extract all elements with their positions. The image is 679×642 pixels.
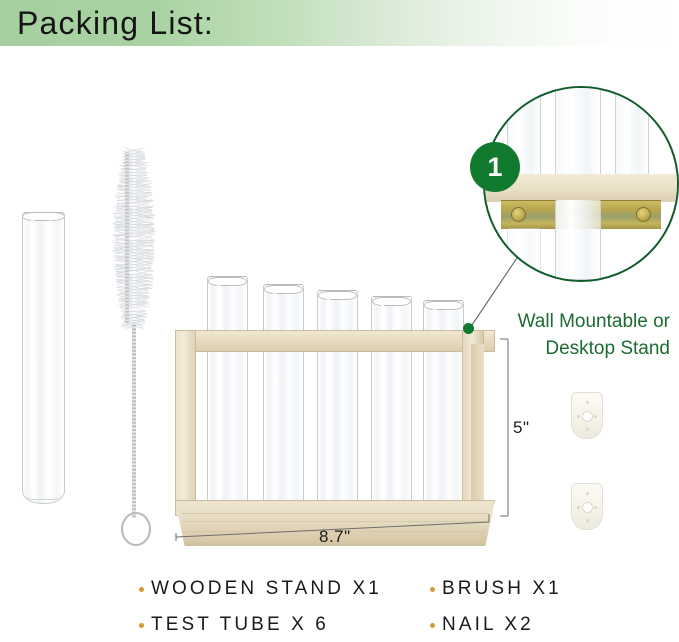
- list-item-label: NAIL X2: [442, 614, 534, 636]
- rack-test-tube: [207, 276, 248, 526]
- list-item-label: TEST TUBE X 6: [151, 614, 329, 636]
- list-item: BRUSH X1: [430, 578, 562, 600]
- callout-test-tube: [555, 86, 601, 184]
- list-item: WOODEN STAND X1: [139, 578, 382, 600]
- plate-center-hole: [582, 411, 593, 422]
- packing-list-items: WOODEN STAND X1 TEST TUBE X 6 BRUSH X1 N…: [0, 574, 679, 642]
- test-tube-rim: [208, 277, 247, 286]
- stand-left-post: [175, 330, 196, 516]
- list-item: TEST TUBE X 6: [139, 614, 329, 636]
- test-tube-rim: [264, 285, 303, 294]
- wall-mount-plate: [571, 483, 603, 530]
- packing-list-header-banner: Packing List:: [0, 0, 679, 46]
- callout-test-tube-lower: [507, 228, 541, 280]
- bullet-icon: [430, 587, 435, 592]
- page-title: Packing List:: [17, 1, 214, 45]
- width-dimension-label: 8.7": [319, 527, 351, 547]
- rack-test-tube: [263, 284, 304, 526]
- wall-mount-plate: [571, 392, 603, 439]
- test-tube-rim: [318, 291, 357, 300]
- bracket-screw: [511, 207, 526, 222]
- test-tube-highlight: [217, 285, 220, 515]
- test-tube-highlight: [49, 220, 52, 494]
- test-tube-highlight: [273, 293, 276, 515]
- test-tube-highlight: [31, 220, 34, 494]
- bracket-screw: [636, 207, 651, 222]
- test-tube-rim: [22, 212, 65, 221]
- list-item-label: WOODEN STAND X1: [151, 578, 382, 600]
- test-tube-body: [22, 212, 65, 504]
- callout-anchor-dot: [463, 323, 474, 334]
- callout-caption: Wall Mountable or Desktop Stand: [400, 308, 670, 362]
- callout-caption-line-2: Desktop Stand: [400, 335, 670, 362]
- test-tube-rim: [372, 297, 411, 306]
- brush-loop-handle: [121, 512, 151, 546]
- stand-inner-side-panel: [471, 344, 484, 504]
- bullet-icon: [139, 587, 144, 592]
- rack-test-tube: [317, 290, 358, 526]
- plate-center-hole: [582, 502, 593, 513]
- bullet-icon: [430, 623, 435, 628]
- list-item: NAIL X2: [430, 614, 534, 636]
- brush-twisted-core: [125, 152, 129, 324]
- callout-test-tube: [615, 86, 649, 184]
- list-item-label: BRUSH X1: [442, 578, 562, 600]
- callout-test-tube-lower: [555, 200, 601, 280]
- brush-wire-handle: [132, 322, 136, 518]
- product-illustration-stage: 8.7" 5" 1 Wall Mountable or Desktop Stan…: [0, 46, 679, 642]
- brush-bristle-head: [115, 150, 153, 326]
- callout-caption-line-1: Wall Mountable or: [400, 308, 670, 335]
- test-tube-base: [26, 490, 61, 500]
- cleaning-brush-illustration: [108, 150, 160, 570]
- wooden-stand-illustration: [175, 228, 495, 530]
- bullet-icon: [139, 623, 144, 628]
- loose-test-tube-illustration: [22, 212, 65, 504]
- callout-badge-1: 1: [470, 142, 520, 192]
- height-dimension-label: 5": [513, 418, 530, 438]
